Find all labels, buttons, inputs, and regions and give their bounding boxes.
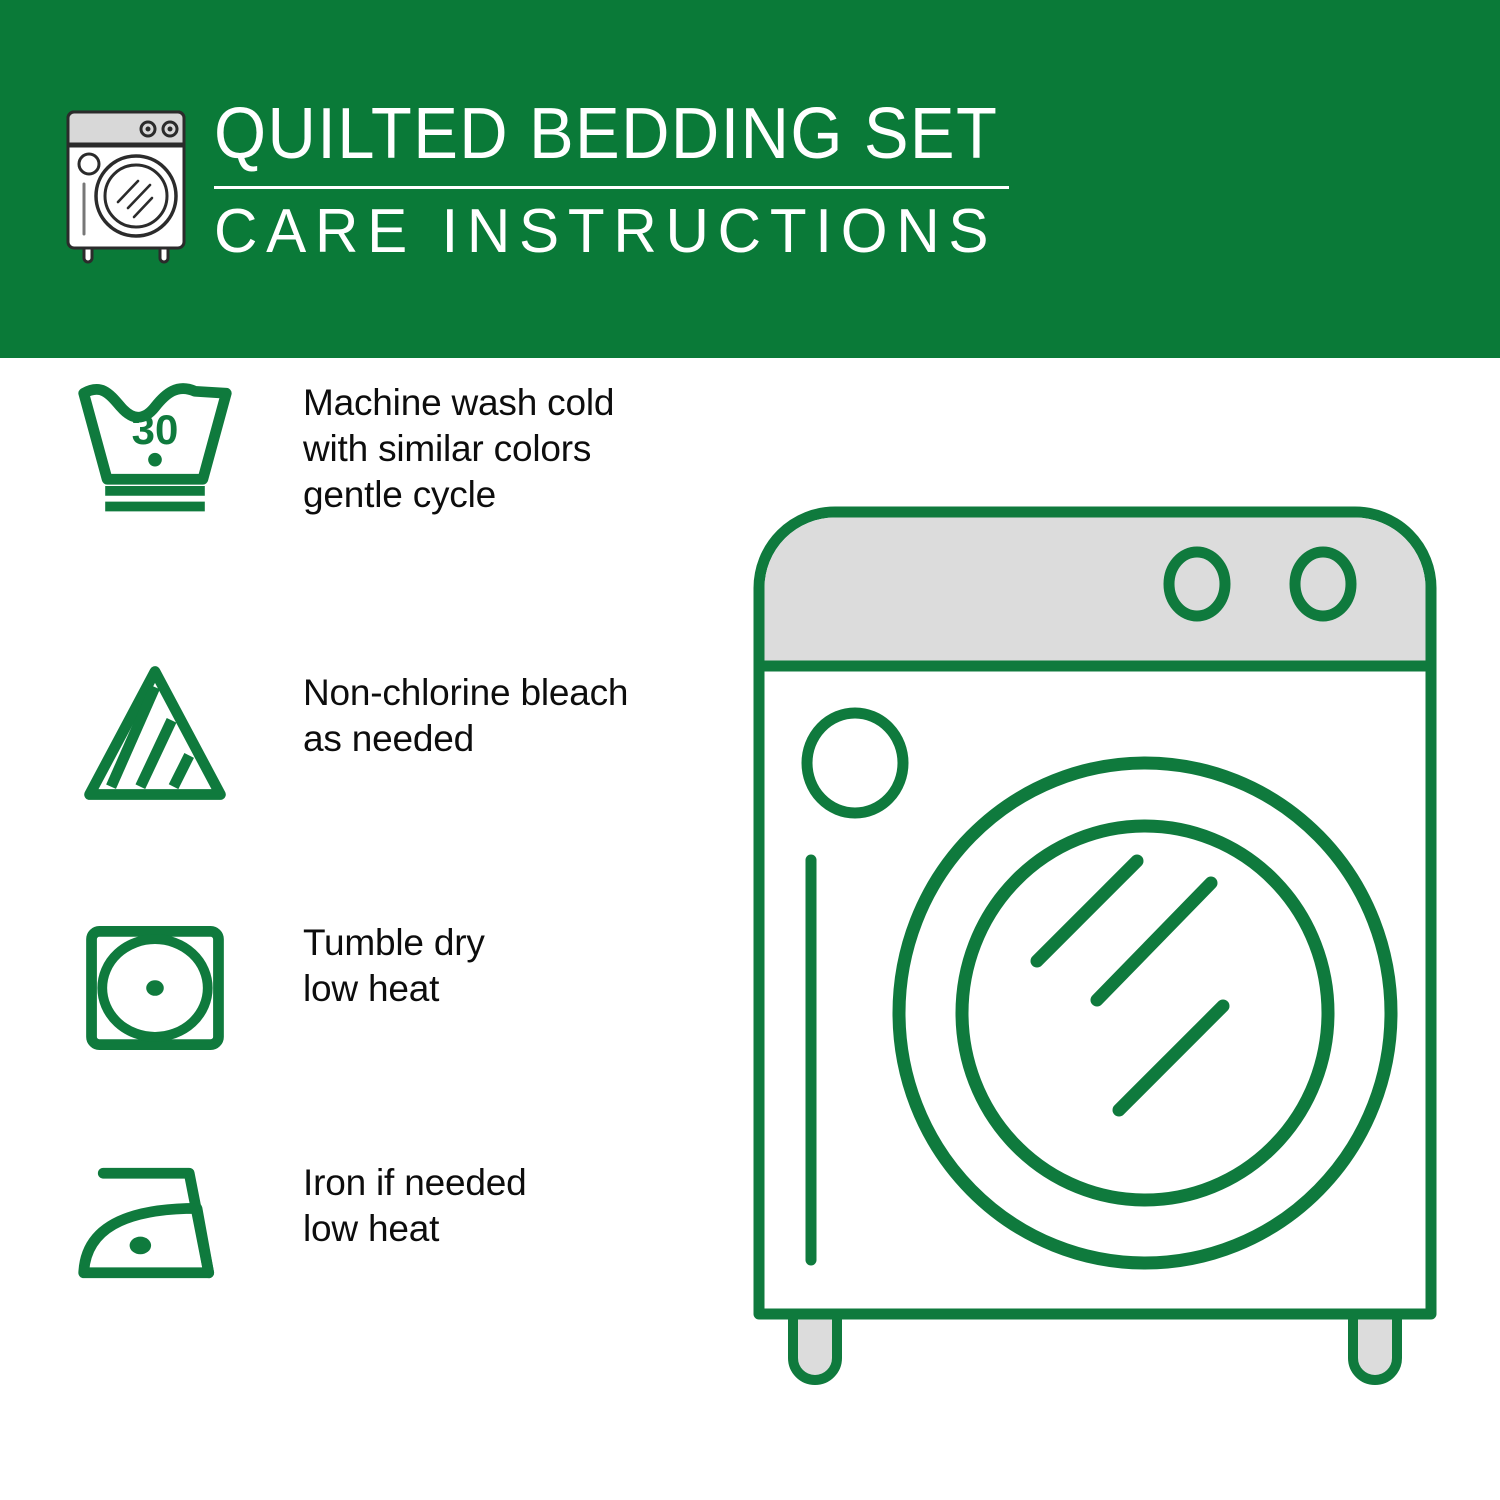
list-item-label: Non-chlorine bleach as needed [303, 670, 628, 762]
header-banner: QUILTED BEDDING SET CARE INSTRUCTIONS [0, 0, 1500, 358]
list-item: Tumble dry low heat [0, 898, 720, 1138]
page-subtitle: CARE INSTRUCTIONS [214, 201, 990, 263]
list-item: Non-chlorine bleach as needed [0, 658, 720, 898]
washing-machine-icon [60, 104, 192, 266]
instructions-list: 30 Machine wash cold with similar colors… [0, 358, 720, 1500]
wash-tub-30-icon: 30 [72, 376, 238, 516]
iron-icon [72, 1158, 238, 1288]
list-item-label: Iron if needed low heat [303, 1160, 526, 1252]
list-item: Iron if needed low heat [0, 1138, 720, 1368]
washing-machine-illustration [745, 498, 1445, 1408]
tumble-dry-icon [72, 918, 238, 1058]
header-text-block: QUILTED BEDDING SET CARE INSTRUCTIONS [214, 98, 1014, 263]
dispenser-circle [807, 713, 903, 813]
machine-legs [793, 1310, 1397, 1380]
list-item: 30 Machine wash cold with similar colors… [0, 358, 720, 658]
care-instructions-page: QUILTED BEDDING SET CARE INSTRUCTIONS 30 [0, 0, 1500, 1500]
control-knob-2 [1295, 552, 1351, 616]
drum-inner-ring [962, 826, 1328, 1200]
page-title: QUILTED BEDDING SET [214, 98, 958, 170]
list-item-label: Machine wash cold with similar colors ge… [303, 380, 614, 518]
wash-temp-value: 30 [132, 406, 179, 453]
bleach-triangle-icon [72, 658, 238, 808]
control-knob-1 [1169, 552, 1225, 616]
list-item-label: Tumble dry low heat [303, 920, 485, 1012]
header-divider [214, 186, 1009, 189]
